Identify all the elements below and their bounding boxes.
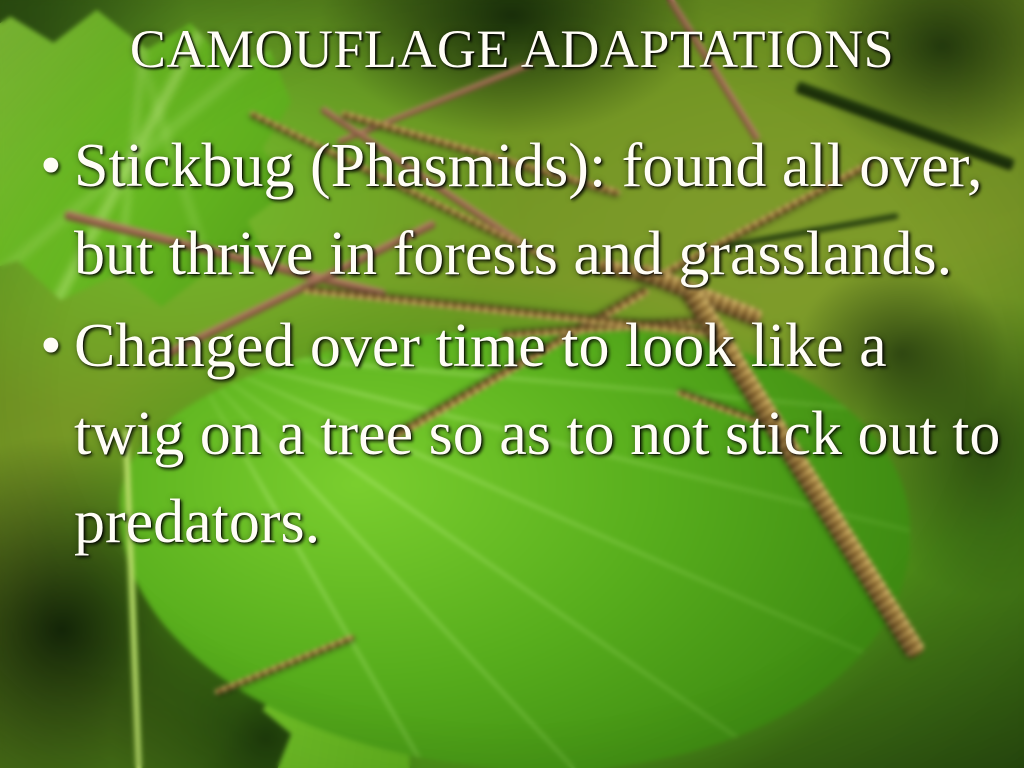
slide-text-layer: CAMOUFLAGE ADAPTATIONS • Stickbug (Phasm… [0,0,1024,768]
page-title: CAMOUFLAGE ADAPTATIONS [0,22,1024,76]
bullet-text: Changed over time to look like a twig on… [74,302,1006,566]
bullet-dot-icon: • [40,302,74,390]
bullet-dot-icon: • [40,122,74,210]
list-item: • Stickbug (Phasmids): found all over, b… [40,122,1006,298]
bullet-list: • Stickbug (Phasmids): found all over, b… [40,122,1006,570]
presentation-slide: CAMOUFLAGE ADAPTATIONS • Stickbug (Phasm… [0,0,1024,768]
bullet-text: Stickbug (Phasmids): found all over, but… [74,122,1006,298]
list-item: • Changed over time to look like a twig … [40,302,1006,566]
